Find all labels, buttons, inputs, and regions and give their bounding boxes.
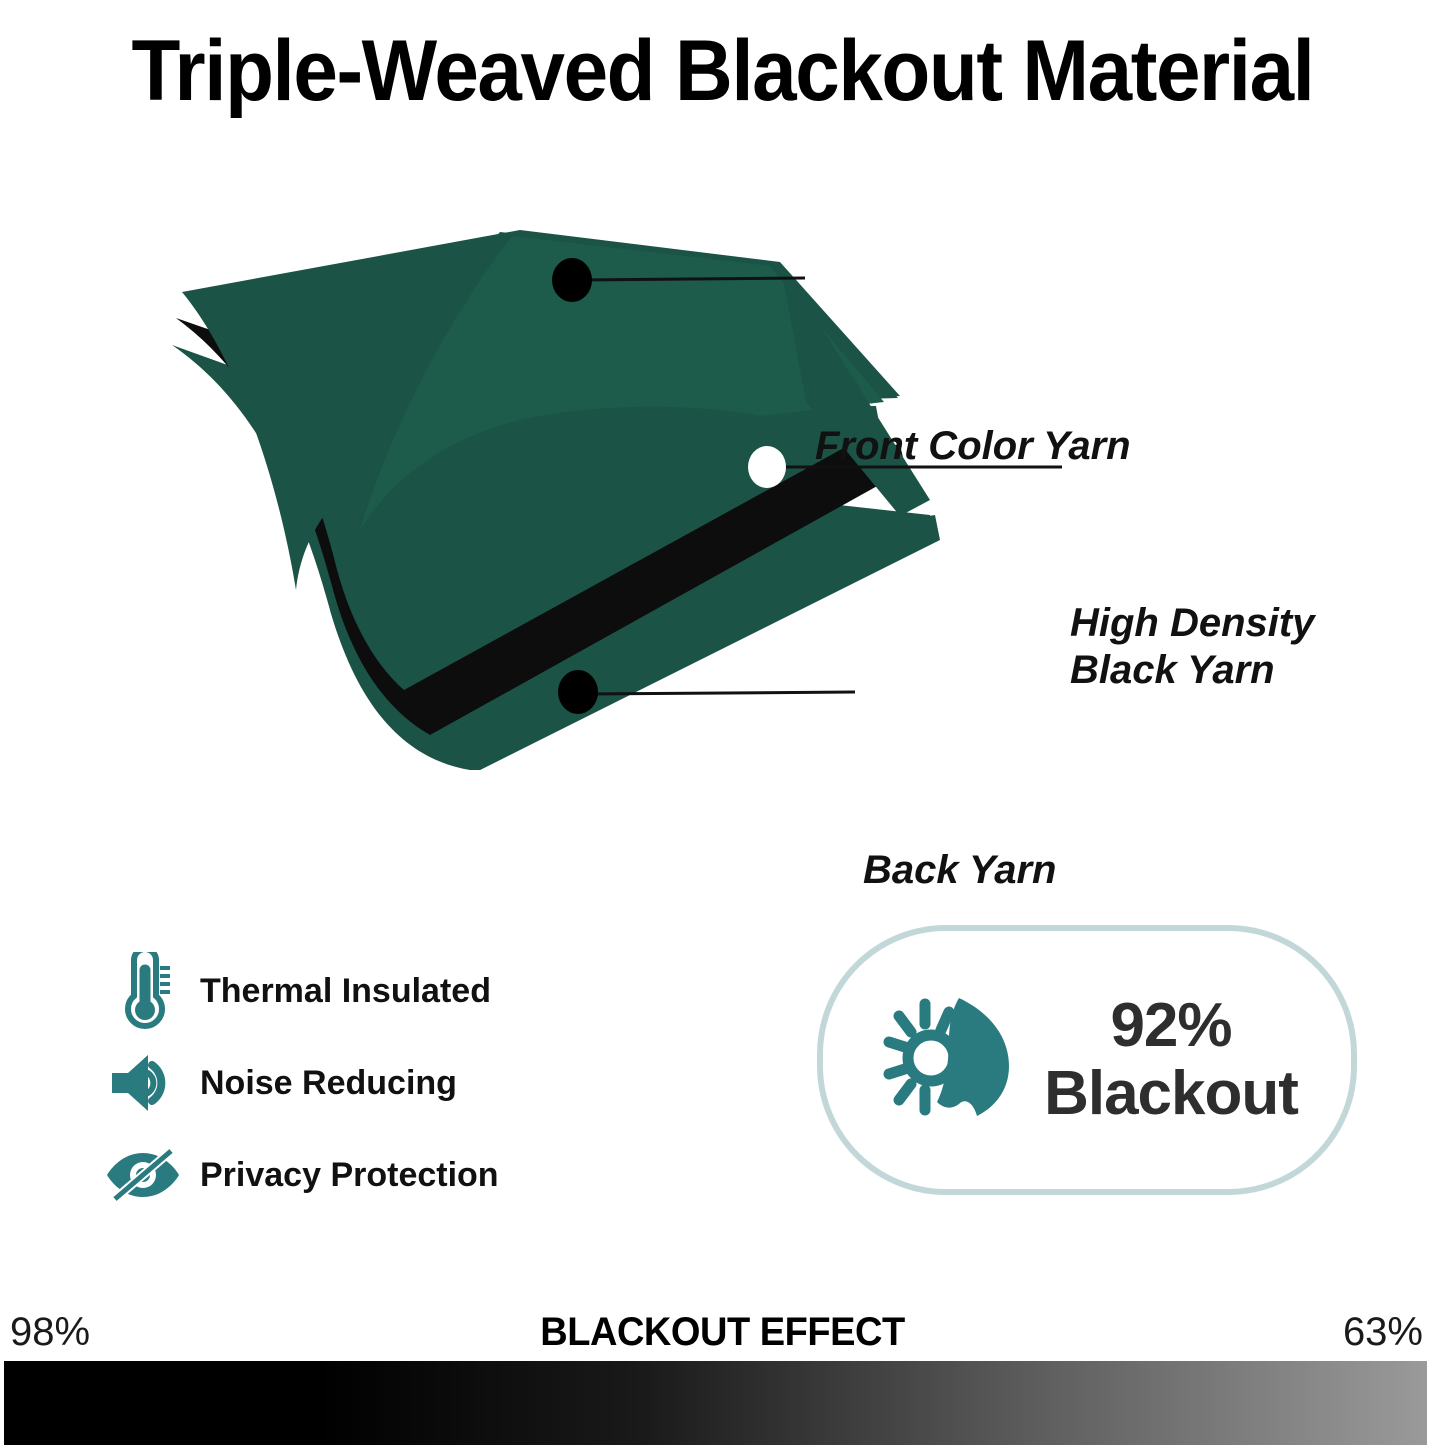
- callout-label-back-yarn: Back Yarn: [863, 847, 1056, 894]
- callout-label-front-color-yarn: Front Color Yarn: [815, 423, 1131, 470]
- blackout-effect-scale: 98% BLACKOUT EFFECT 63%: [0, 1300, 1445, 1445]
- callout-label-high-density-black-yarn: High Density Black Yarn: [1070, 600, 1314, 694]
- leader-line-front: [580, 278, 805, 280]
- eye-slash-icon: [100, 1145, 186, 1205]
- scale-title: BLACKOUT EFFECT: [36, 1310, 1409, 1355]
- feature-label: Noise Reducing: [200, 1064, 457, 1103]
- callout-dot-back: [558, 670, 598, 714]
- fabric-layers-diagram: Front Color Yarn High Density Black Yarn…: [0, 170, 1445, 810]
- gradient-bar: [4, 1361, 1427, 1445]
- feature-label: Privacy Protection: [200, 1156, 499, 1195]
- leader-line-back: [588, 692, 855, 694]
- callout-label-line1: High Density: [1070, 600, 1314, 647]
- sun-behind-curtain-icon: [876, 990, 1026, 1130]
- blackout-word: Blackout: [1044, 1063, 1298, 1125]
- fabric-illustration: [0, 170, 1445, 810]
- blackout-rating-badge: 92% Blackout: [817, 925, 1357, 1195]
- scale-right-value: 63%: [1343, 1310, 1423, 1355]
- callout-label-line2: Black Yarn: [1070, 647, 1314, 694]
- thermometer-icon: [100, 952, 186, 1030]
- callout-dot-front: [552, 258, 592, 302]
- feature-item-privacy-protection: Privacy Protection: [100, 1129, 660, 1221]
- blackout-percent: 92%: [1044, 995, 1298, 1057]
- page-title: Triple-Weaved Blackout Material: [51, 26, 1395, 116]
- feature-item-noise-reducing: Noise Reducing: [100, 1037, 660, 1129]
- badge-text-block: 92% Blackout: [1044, 995, 1298, 1125]
- feature-list: Thermal Insulated Noise Reducing Privacy…: [100, 945, 660, 1221]
- callout-dot-black: [748, 446, 786, 488]
- speaker-icon: [100, 1051, 186, 1115]
- feature-label: Thermal Insulated: [200, 972, 491, 1011]
- feature-item-thermal-insulated: Thermal Insulated: [100, 945, 660, 1037]
